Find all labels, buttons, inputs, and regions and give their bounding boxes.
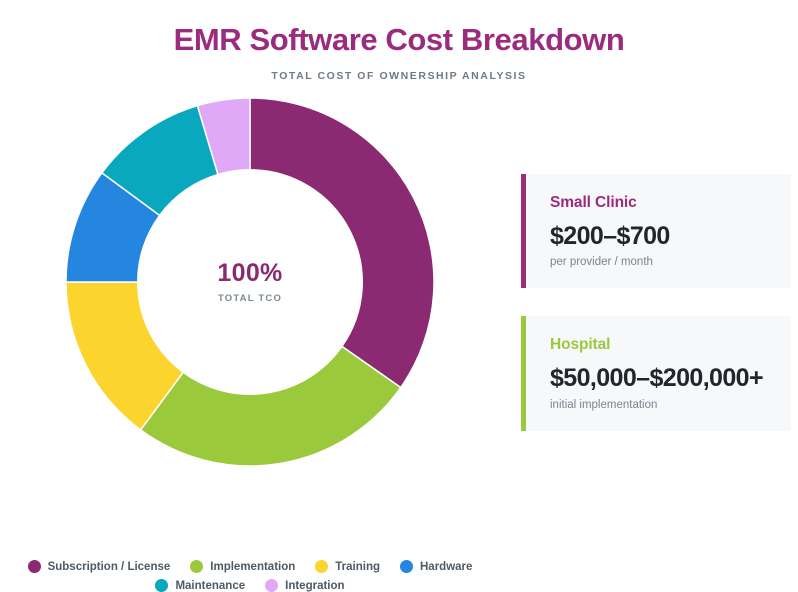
donut-chart: 100% TOTAL TCO	[66, 98, 434, 466]
cost-card-title: Hospital	[550, 336, 769, 354]
legend-color-swatch-icon	[155, 579, 168, 592]
donut-chart-area: 100% TOTAL TCO Subscription / LicenseImp…	[0, 90, 500, 480]
cost-card-value: $50,000–$200,000+	[550, 365, 769, 391]
legend-item[interactable]: Integration	[265, 579, 344, 592]
cost-card-value: $200–$700	[550, 223, 769, 249]
chart-header: EMR Software Cost Breakdown TOTAL COST O…	[0, 0, 798, 82]
cost-cards: Small Clinic$200–$700per provider / mont…	[521, 174, 791, 431]
legend-color-swatch-icon	[28, 560, 41, 573]
cost-card-small-clinic: Small Clinic$200–$700per provider / mont…	[521, 174, 791, 288]
legend-item[interactable]: Training	[315, 560, 380, 573]
page-title: EMR Software Cost Breakdown	[0, 22, 798, 58]
chart-legend: Subscription / LicenseImplementationTrai…	[0, 560, 500, 592]
legend-item-label: Training	[335, 561, 380, 573]
legend-item-label: Hardware	[420, 561, 472, 573]
legend-item[interactable]: Implementation	[190, 560, 295, 573]
cost-card-note: initial implementation	[550, 399, 769, 411]
cost-card-note: per provider / month	[550, 256, 769, 268]
legend-color-swatch-icon	[315, 560, 328, 573]
legend-item[interactable]: Hardware	[400, 560, 472, 573]
cost-card-hospital: Hospital$50,000–$200,000+initial impleme…	[521, 316, 791, 430]
legend-color-swatch-icon	[265, 579, 278, 592]
legend-item-label: Implementation	[210, 561, 295, 573]
legend-color-swatch-icon	[400, 560, 413, 573]
legend-color-swatch-icon	[190, 560, 203, 573]
legend-item[interactable]: Maintenance	[155, 579, 245, 592]
legend-item-label: Subscription / License	[48, 561, 171, 573]
cost-card-title: Small Clinic	[550, 194, 769, 212]
legend-item-label: Maintenance	[175, 580, 245, 592]
legend-item[interactable]: Subscription / License	[28, 560, 171, 573]
donut-slice[interactable]	[250, 98, 434, 388]
donut-svg	[66, 98, 434, 466]
page-subtitle: TOTAL COST OF OWNERSHIP ANALYSIS	[0, 70, 798, 82]
donut-slice[interactable]	[141, 346, 401, 466]
legend-item-label: Integration	[285, 580, 344, 592]
